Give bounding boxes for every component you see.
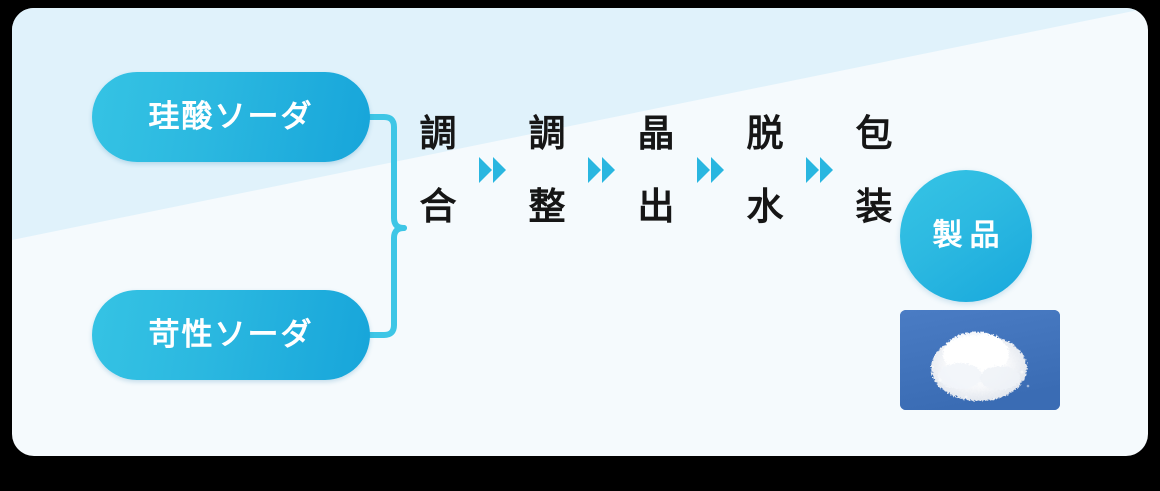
step-char-top: 調 (529, 115, 566, 152)
step-char-top: 脱 (747, 115, 784, 152)
step-char-top: 晶 (638, 115, 675, 152)
process-step-adjustment: 調 整 (525, 115, 569, 225)
input-pill-silicate[interactable]: 珪酸ソーダ (92, 72, 370, 162)
product-circle[interactable]: 製品 (900, 170, 1032, 302)
double-chevron-right-icon (582, 157, 622, 183)
process-step-packaging: 包 装 (852, 115, 896, 225)
process-flow-card: 珪酸ソーダ 苛性ソーダ 調 合 調 整 晶 出 脱 水 (12, 8, 1148, 456)
process-step-blending: 調 合 (416, 115, 460, 225)
step-char-top: 包 (856, 115, 893, 152)
step-char-bottom: 水 (747, 188, 784, 225)
double-chevron-right-icon (800, 157, 840, 183)
process-step-crystallization: 晶 出 (634, 115, 678, 225)
process-step-dehydration: 脱 水 (743, 115, 787, 225)
step-char-bottom: 合 (420, 188, 457, 225)
input-pill-label: 苛性ソーダ (149, 320, 314, 351)
step-char-bottom: 出 (638, 188, 675, 225)
product-photo (900, 310, 1060, 410)
double-chevron-right-icon (473, 157, 513, 183)
step-char-bottom: 整 (529, 188, 566, 225)
input-pill-label: 珪酸ソーダ (149, 102, 314, 133)
double-chevron-right-icon (691, 157, 731, 183)
input-pill-caustic-soda[interactable]: 苛性ソーダ (92, 290, 370, 380)
product-label: 製品 (926, 221, 1007, 251)
step-char-top: 調 (420, 115, 457, 152)
step-char-bottom: 装 (856, 188, 893, 225)
process-step-list: 調 合 調 整 晶 出 脱 水 包 装 (416, 106, 896, 234)
